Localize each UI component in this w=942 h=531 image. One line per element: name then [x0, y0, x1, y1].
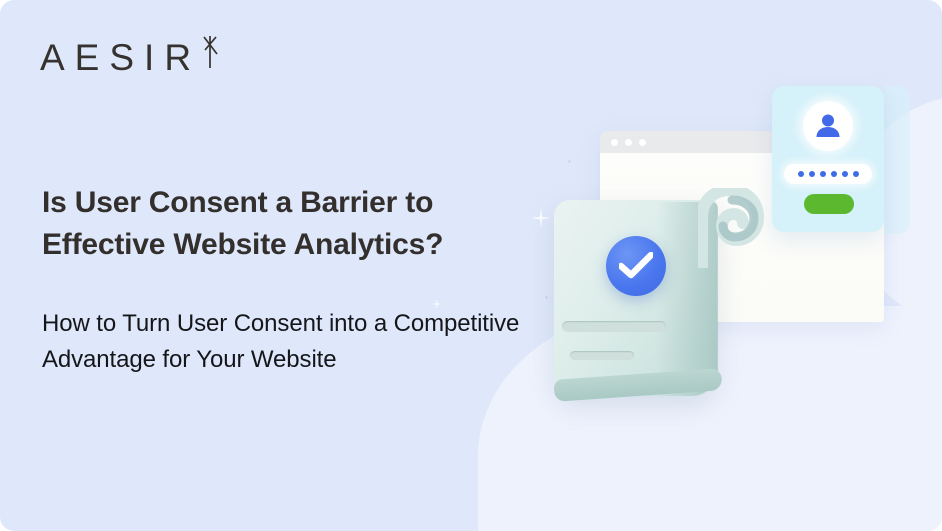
hero-banner: AESIR Is User Consent a Barrier to Effec…: [0, 0, 942, 531]
speck-dot: [568, 160, 571, 163]
password-dot-icon: [820, 171, 826, 177]
traffic-light-dot-icon: [625, 139, 632, 146]
password-dot-icon: [809, 171, 815, 177]
traffic-light-dot-icon: [639, 139, 646, 146]
receipt-text-line: [562, 321, 666, 332]
password-dot-icon: [798, 171, 804, 177]
password-field[interactable]: [784, 164, 872, 184]
brand-logo[interactable]: AESIR: [40, 36, 219, 90]
login-card: [772, 86, 884, 232]
password-dot-icon: [842, 171, 848, 177]
login-card-edge: [884, 86, 910, 234]
traffic-light-dot-icon: [611, 139, 618, 146]
user-avatar-icon: [814, 112, 842, 140]
login-submit-button[interactable]: [804, 194, 854, 214]
page-title: Is User Consent a Barrier to Effective W…: [42, 182, 562, 266]
page-subtitle: How to Turn User Consent into a Competit…: [42, 306, 532, 378]
password-dot-icon: [831, 171, 837, 177]
status-badge: [606, 236, 666, 296]
brand-logo-text: AESIR: [40, 36, 201, 80]
receipt-text-line: [570, 351, 634, 360]
rune-mark-icon: [197, 36, 219, 80]
avatar: [803, 101, 853, 151]
paper-curl-icon: [698, 188, 764, 262]
check-circle-icon: [619, 252, 653, 280]
consent-receipt: [548, 188, 778, 410]
password-dot-icon: [853, 171, 859, 177]
